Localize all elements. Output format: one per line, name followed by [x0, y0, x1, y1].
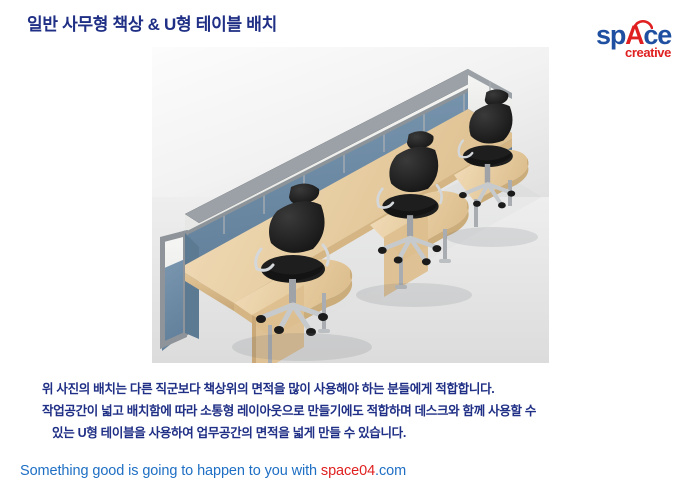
logo-caret-icon [633, 18, 653, 29]
page-title: 일반 사무형 책상 & U형 테이블 배치 [27, 10, 277, 35]
description-text: 위 사진의 배치는 다른 직군보다 책상위의 면적을 많이 사용해야 하는 분들… [42, 378, 672, 444]
tagline-prefix: Something good is going to happen to you… [20, 463, 321, 479]
office-layout-render [152, 47, 549, 363]
brand-logo: spAce creative [596, 18, 692, 62]
tagline-tld: .com [375, 463, 406, 479]
description-line-1: 위 사진의 배치는 다른 직군보다 책상위의 면적을 많이 사용해야 하는 분들… [42, 378, 672, 400]
tagline-brand: space04 [321, 463, 375, 479]
description-line-3: 있는 U형 테이블을 사용하여 업무공간의 면적을 넓게 만들 수 있습니다. [42, 422, 672, 444]
render-artwork [152, 47, 549, 363]
logo-subtitle: creative [625, 46, 671, 59]
description-line-2: 작업공간이 넓고 배치함에 따라 소통형 레이아웃으로 만들기에도 적합하며 데… [42, 400, 672, 422]
logo-text-sp: sp [596, 20, 625, 50]
footer-tagline: Something good is going to happen to you… [20, 463, 406, 479]
